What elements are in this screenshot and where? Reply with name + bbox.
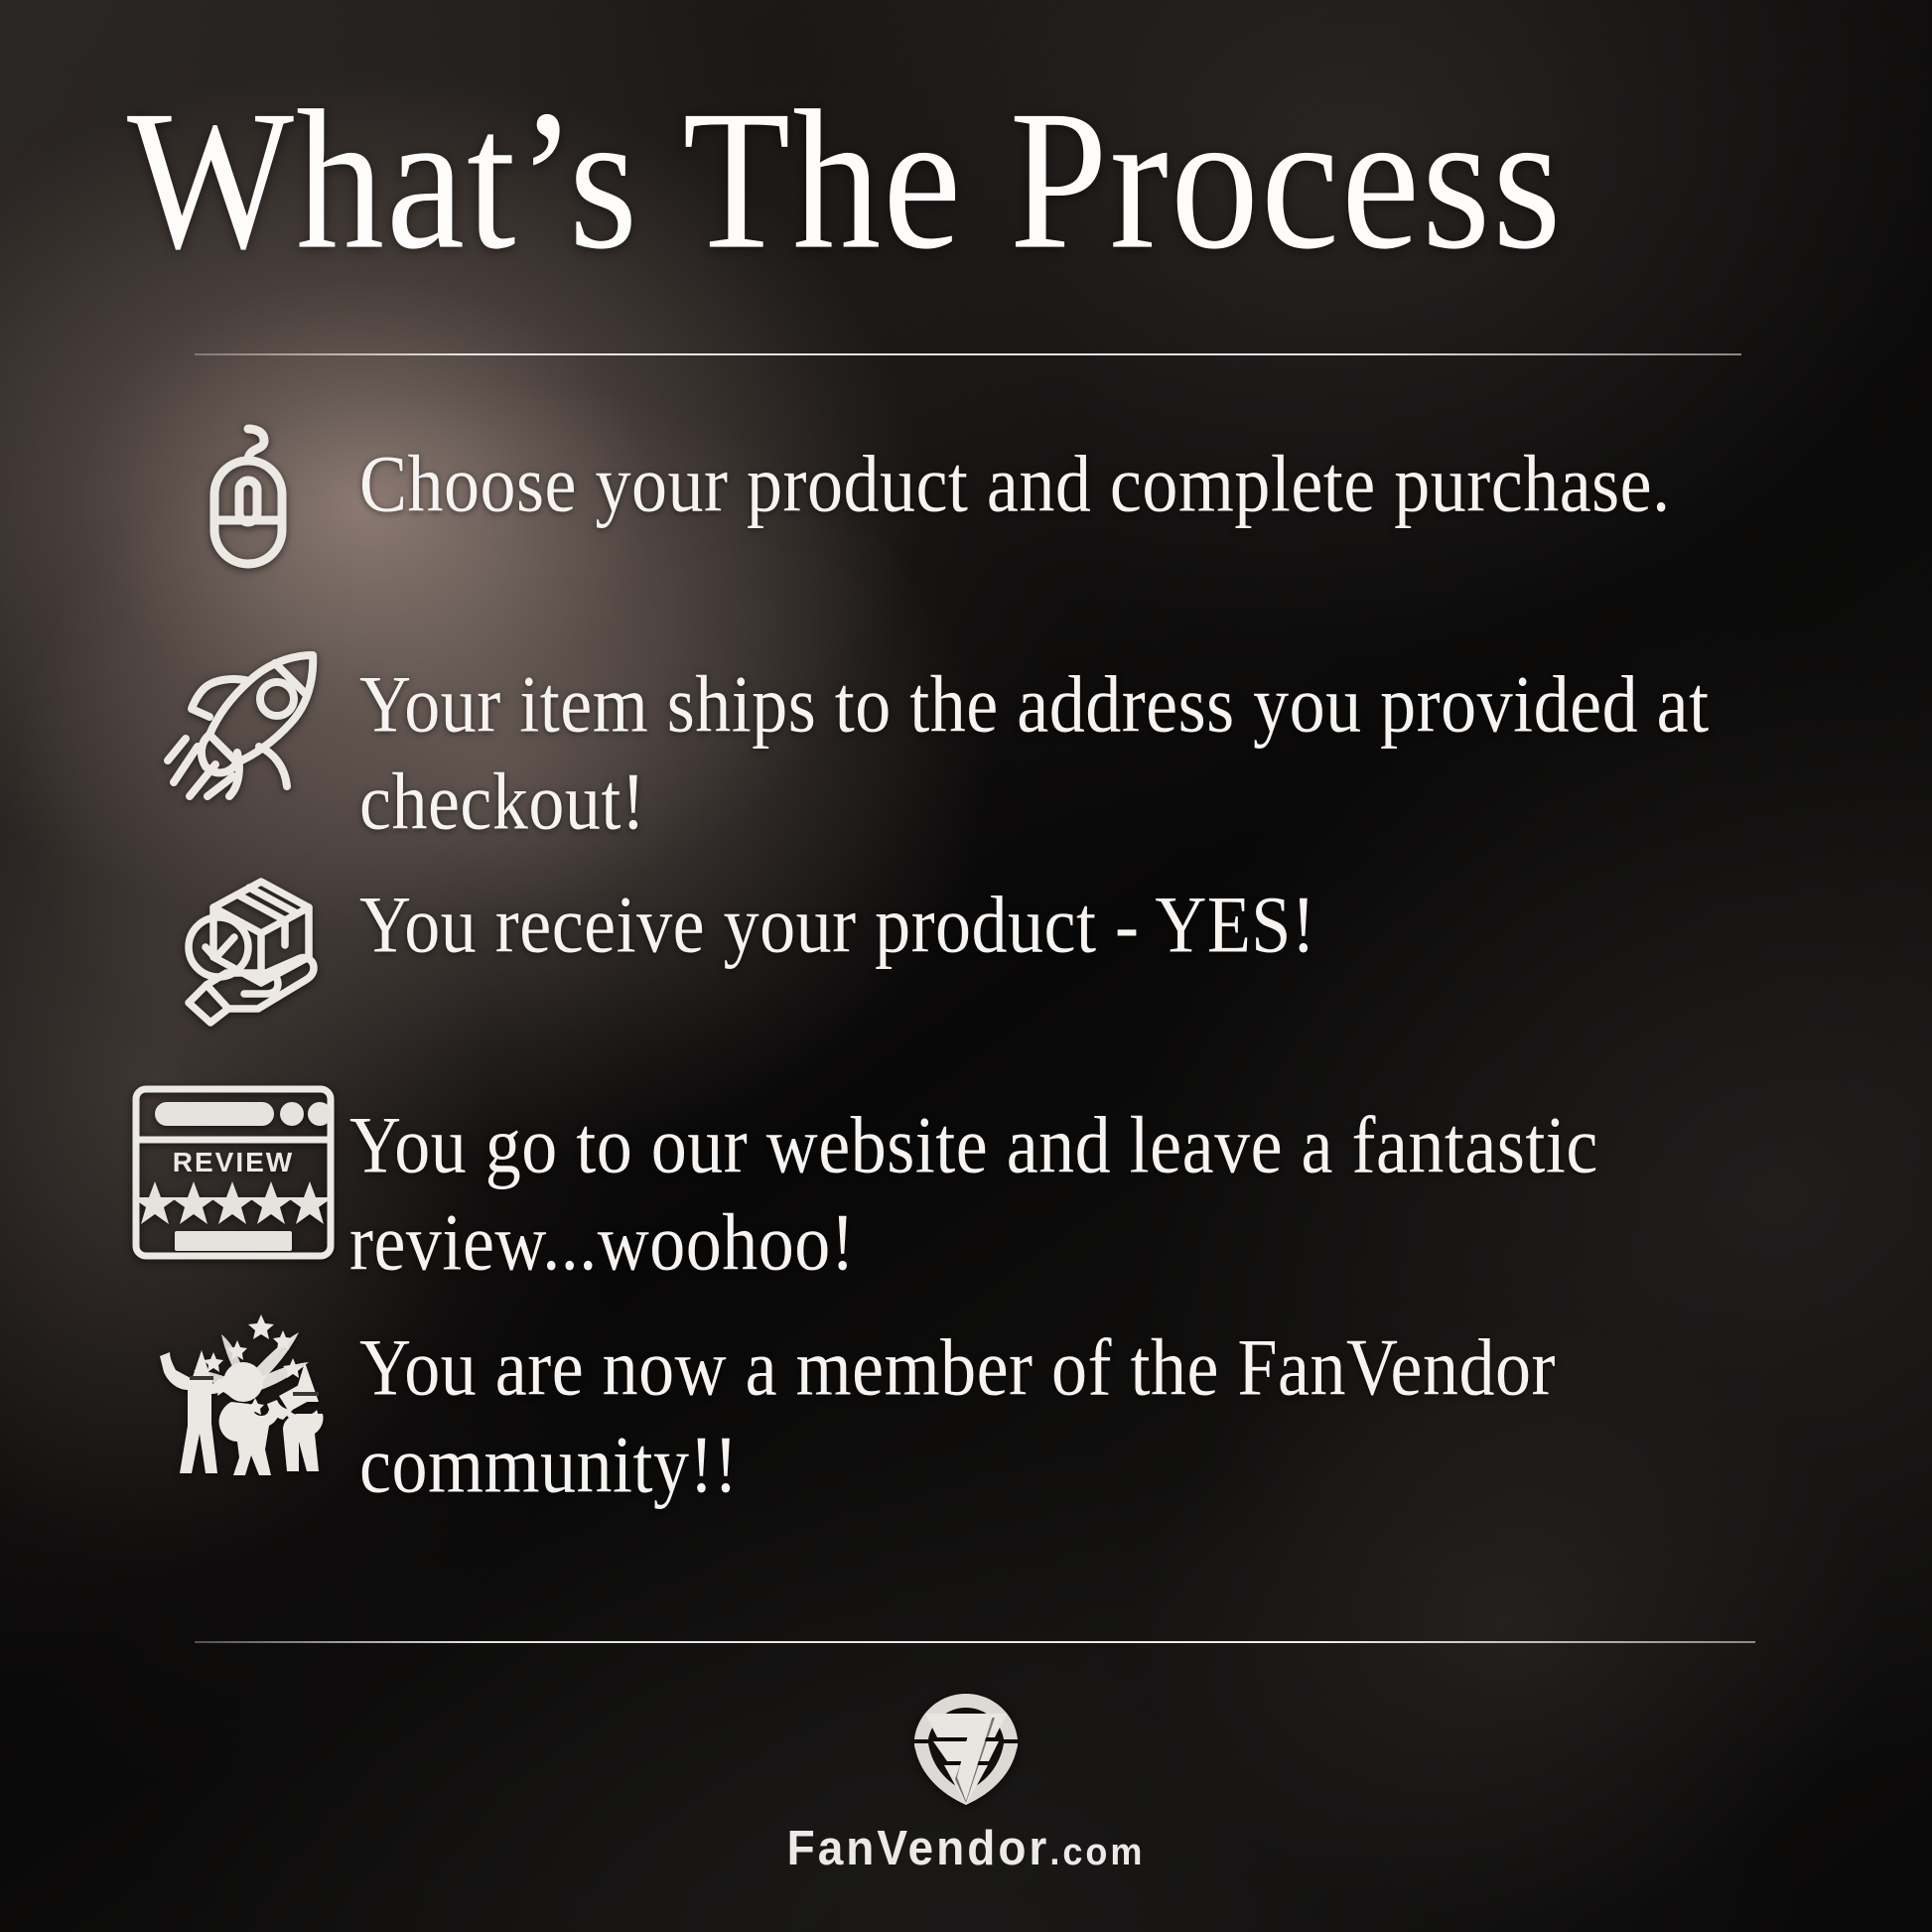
process-step: You are now a member of the FanVendor co… <box>0 1301 1932 1495</box>
process-steps-list: Choose your product and complete purchas… <box>0 417 1932 1495</box>
divider-bottom <box>195 1641 1755 1643</box>
package-in-hand-check-icon <box>149 858 347 1028</box>
process-step: Choose your product and complete purchas… <box>0 417 1932 612</box>
fanvendor-shield-logo <box>903 1688 1029 1811</box>
star-rating <box>132 1181 333 1224</box>
process-step: REVIEW You go to our website and leave a… <box>0 1078 1932 1273</box>
computer-mouse-icon <box>149 417 347 572</box>
brand-tld: .com <box>1049 1830 1145 1872</box>
process-step: You receive your product - YES! <box>0 858 1932 1052</box>
process-step-text: Your item ships to the address you provi… <box>359 637 1849 851</box>
process-step-text: You go to our website and leave a fantas… <box>349 1078 1839 1292</box>
celebration-people-confetti-icon <box>127 1301 347 1477</box>
footer: FanVendor.com <box>0 1688 1932 1874</box>
brand-wordmark: FanVendor.com <box>787 1819 1146 1875</box>
divider-top <box>195 353 1741 355</box>
page-title: What’s The Process <box>127 77 1815 283</box>
rocket-icon <box>149 637 347 802</box>
poster-canvas: What’s The Process Choose your product a… <box>0 0 1932 1932</box>
process-step-text: Choose your product and complete purchas… <box>359 417 1730 533</box>
browser-review-stars-icon: REVIEW <box>119 1078 347 1261</box>
process-step-text: You receive your product - YES! <box>359 858 1375 974</box>
process-step-text: You are now a member of the FanVendor co… <box>359 1301 1849 1514</box>
brand-name: FanVendor <box>787 1820 1050 1874</box>
process-step: Your item ships to the address you provi… <box>0 637 1932 832</box>
review-label: REVIEW <box>173 1147 294 1177</box>
